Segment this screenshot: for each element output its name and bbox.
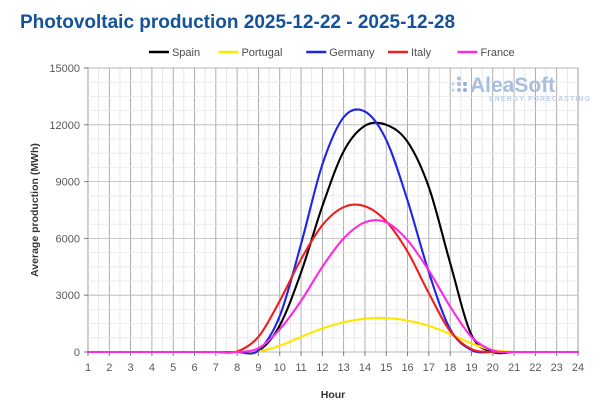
chart-title: Photovoltaic production 2025-12-22 - 202… <box>20 12 455 33</box>
logo-wordmark: AleaSoft <box>470 74 555 97</box>
x-tick-label: 9 <box>255 362 261 374</box>
x-tick-label: 15 <box>380 362 392 374</box>
legend-label-portugal: Portugal <box>241 47 282 59</box>
y-tick-label: 3000 <box>56 290 80 302</box>
x-tick-label: 1 <box>85 362 91 374</box>
x-tick-label: 6 <box>191 362 197 374</box>
x-tick-label: 8 <box>234 362 240 374</box>
x-tick-label: 23 <box>551 362 563 374</box>
x-tick-label: 5 <box>170 362 176 374</box>
x-tick-label: 4 <box>149 362 155 374</box>
legend-label-france: France <box>480 47 514 59</box>
gridlines <box>88 68 578 352</box>
x-tick-label: 19 <box>465 362 477 374</box>
x-tick-label: 18 <box>444 362 456 374</box>
x-tick-label: 16 <box>401 362 413 374</box>
x-tick-label: 7 <box>213 362 219 374</box>
x-tick-label: 14 <box>359 362 371 374</box>
x-axis-title: Hour <box>321 389 346 401</box>
y-tick-label: 9000 <box>56 177 80 189</box>
x-tick-label: 2 <box>106 362 112 374</box>
legend-label-germany: Germany <box>329 47 375 59</box>
legend-label-spain: Spain <box>172 47 200 59</box>
x-tick-label: 11 <box>295 362 306 374</box>
x-tick-label: 22 <box>529 362 541 374</box>
legend-label-italy: Italy <box>411 47 432 59</box>
y-tick-label: 0 <box>74 347 80 359</box>
x-tick-label: 21 <box>508 362 520 374</box>
x-tick-label: 13 <box>338 362 350 374</box>
x-tick-label: 12 <box>316 362 328 374</box>
x-tick-label: 20 <box>487 362 499 374</box>
y-tick-label: 6000 <box>56 233 80 245</box>
photovoltaic-production-chart: Photovoltaic production 2025-12-22 - 202… <box>0 0 600 420</box>
y-tick-label: 15000 <box>49 63 80 75</box>
logo-tagline: ENERGY FORECASTING <box>489 96 591 103</box>
x-tick-label: 3 <box>128 362 134 374</box>
y-tick-label: 12000 <box>49 120 80 132</box>
x-tick-label: 17 <box>423 362 435 374</box>
y-axis-title: Average production (MWh) <box>29 143 41 277</box>
x-tick-label: 24 <box>572 362 584 374</box>
x-tick-label: 10 <box>274 362 286 374</box>
